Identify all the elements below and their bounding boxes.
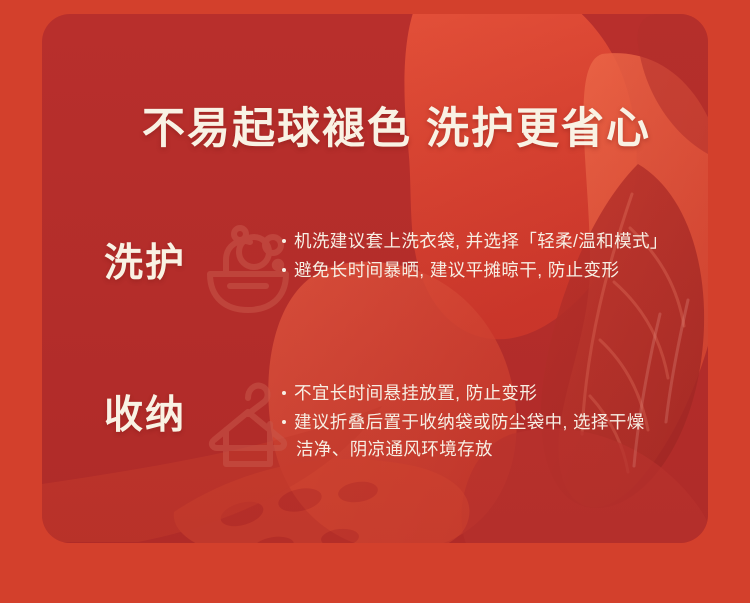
section-label-wash: 洗护 bbox=[104, 232, 186, 288]
care-instructions-storage: 不宜长时间悬挂放置, 防止变形 建议折叠后置于收纳袋或防尘袋中, 选择干燥 洁净… bbox=[282, 380, 708, 465]
page-title: 不易起球褪色 洗护更省心 bbox=[142, 94, 651, 156]
list-item-text: 不宜长时间悬挂放置, 防止变形 bbox=[294, 380, 708, 407]
poster-card: 不易起球褪色 洗护更省心 洗护 bbox=[42, 14, 708, 543]
section-label-storage: 收纳 bbox=[104, 384, 186, 440]
list-item-text-line1: 建议折叠后置于收纳袋或防尘袋中, 选择干燥 bbox=[294, 412, 645, 432]
product-care-poster: 不易起球褪色 洗护更省心 洗护 bbox=[0, 0, 750, 603]
list-item: 不宜长时间悬挂放置, 防止变形 bbox=[282, 380, 708, 407]
list-item: 避免长时间暴晒, 建议平摊晾干, 防止变形 bbox=[282, 257, 708, 284]
bullet-dot-icon bbox=[282, 268, 292, 272]
bullet-dot-icon bbox=[282, 391, 292, 395]
list-item-text-line2: 洁净、阴凉通风环境存放 bbox=[294, 436, 708, 463]
list-item-text: 避免长时间暴晒, 建议平摊晾干, 防止变形 bbox=[294, 257, 708, 284]
list-item-text: 机洗建议套上洗衣袋, 并选择「轻柔/温和模式」 bbox=[294, 228, 708, 255]
list-item: 机洗建议套上洗衣袋, 并选择「轻柔/温和模式」 bbox=[282, 228, 708, 255]
bullet-dot-icon bbox=[282, 239, 292, 243]
list-item-text: 建议折叠后置于收纳袋或防尘袋中, 选择干燥 洁净、阴凉通风环境存放 bbox=[294, 409, 708, 463]
list-item: 建议折叠后置于收纳袋或防尘袋中, 选择干燥 洁净、阴凉通风环境存放 bbox=[282, 409, 708, 463]
bullet-dot-icon bbox=[282, 420, 292, 424]
care-instructions-wash: 机洗建议套上洗衣袋, 并选择「轻柔/温和模式」 避免长时间暴晒, 建议平摊晾干,… bbox=[282, 228, 708, 286]
